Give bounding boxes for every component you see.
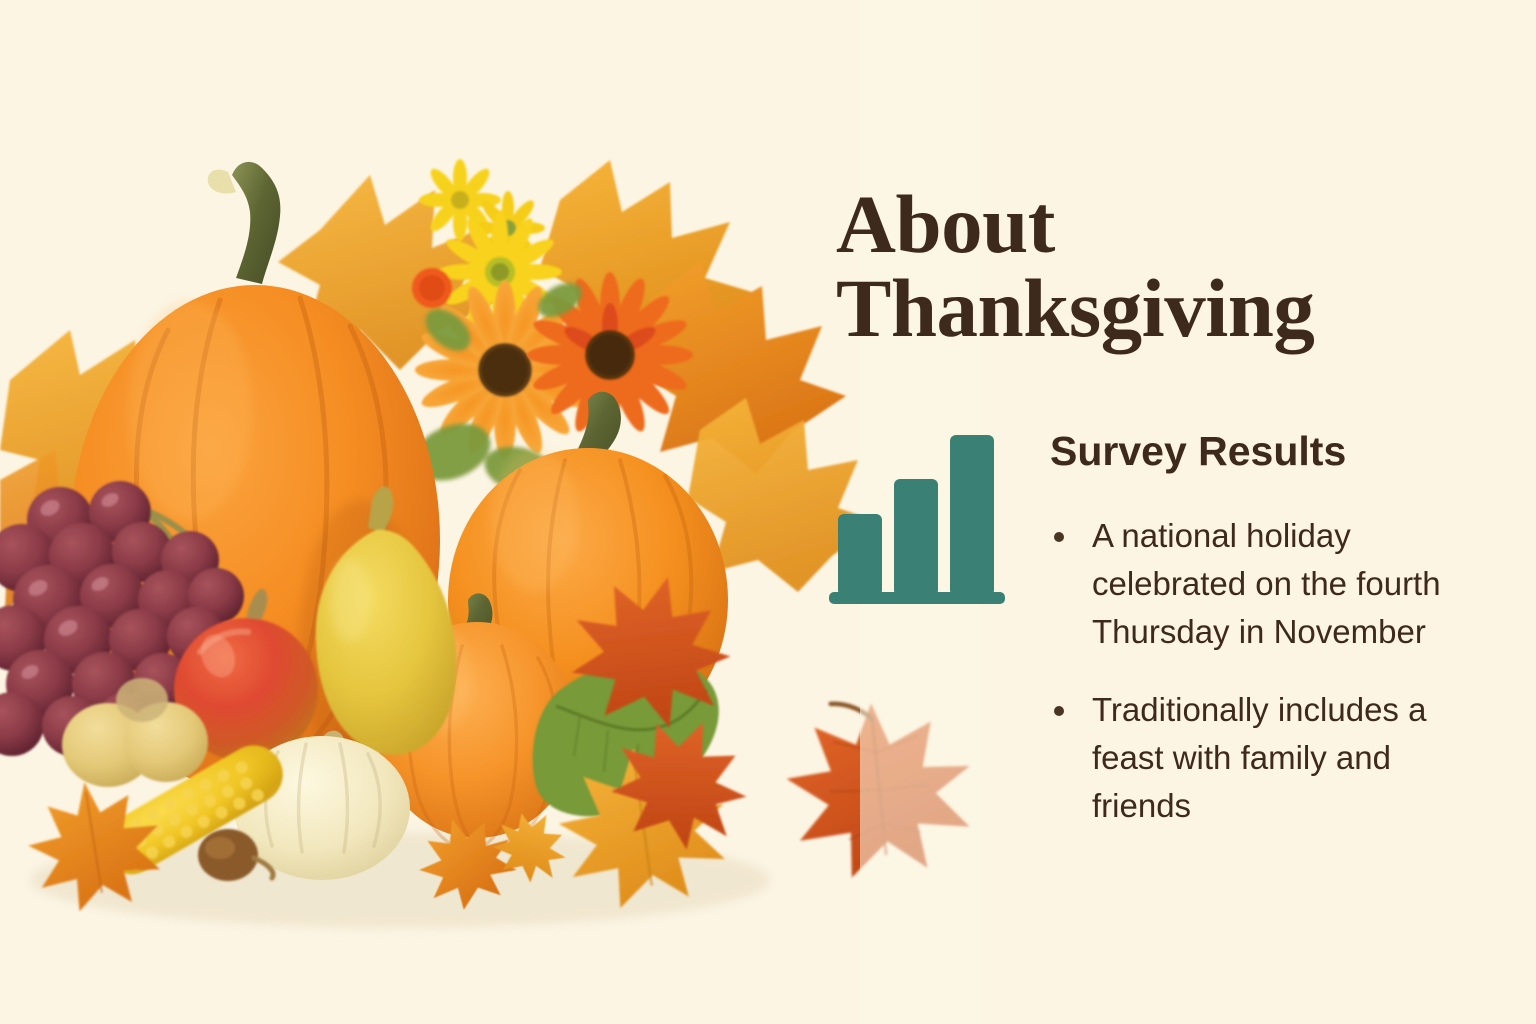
bullet-dot-icon (1054, 706, 1064, 716)
bar-chart-icon (826, 428, 1010, 610)
survey-results-bullet-list: A national holiday celebrated on the fou… (1050, 512, 1470, 860)
survey-results-heading: Survey Results (1050, 428, 1346, 474)
bar-1 (838, 514, 882, 596)
list-item: Traditionally includes a feast with fami… (1050, 686, 1470, 830)
chart-baseline (829, 592, 1005, 604)
page-title: About Thanksgiving (836, 182, 1436, 350)
slide-root: About Thanksgiving Survey Results A nati… (0, 0, 1536, 1024)
list-item-label: A national holiday celebrated on the fou… (1092, 517, 1441, 650)
bullet-dot-icon (1054, 532, 1064, 542)
bar-3 (950, 435, 994, 596)
bar-2 (894, 479, 938, 596)
list-item: A national holiday celebrated on the fou… (1050, 512, 1470, 656)
list-item-label: Traditionally includes a feast with fami… (1092, 691, 1426, 824)
